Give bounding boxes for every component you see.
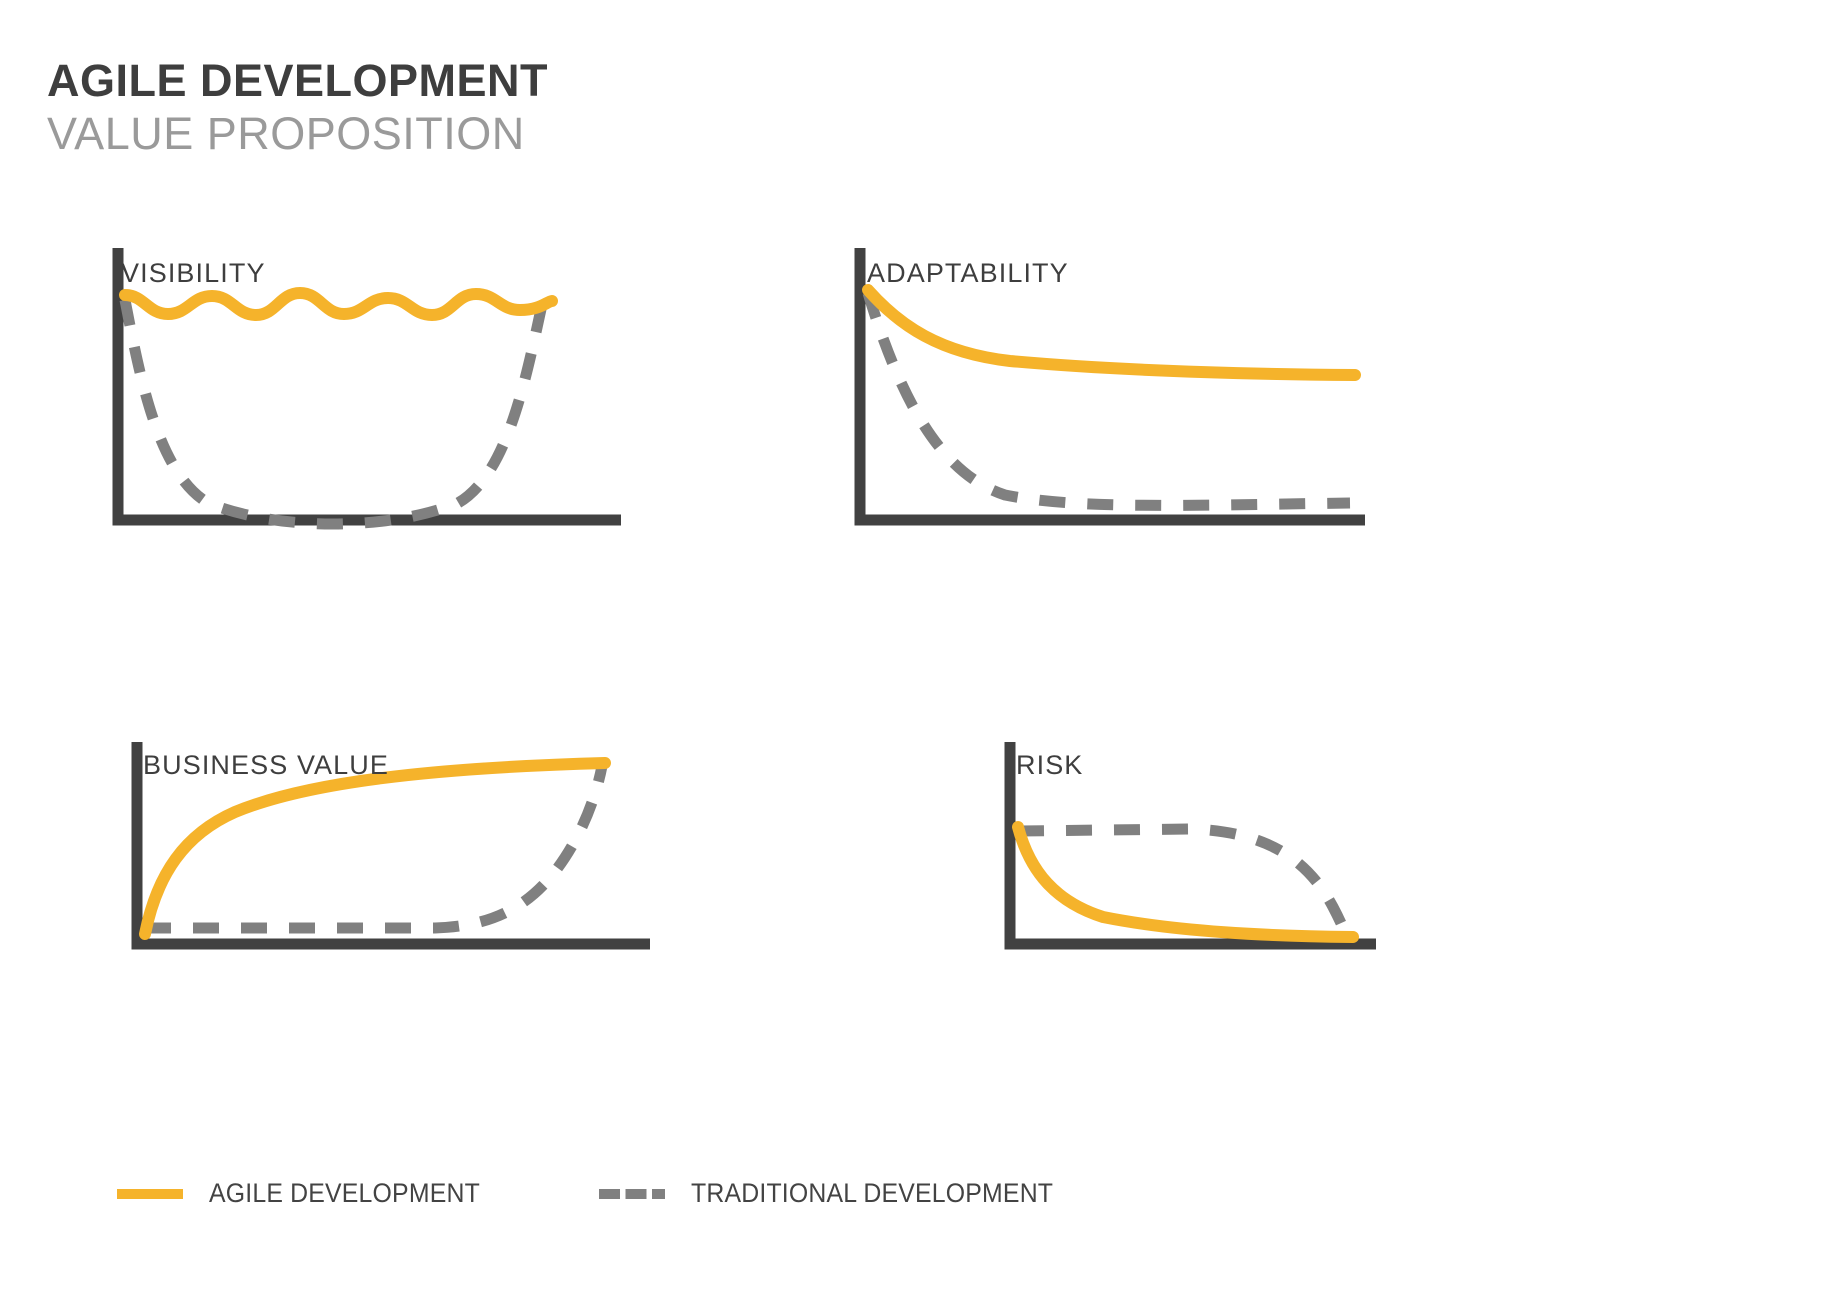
page-title: AGILE DEVELOPMENT VALUE PROPOSITION (47, 58, 548, 156)
series-agile-adaptability (868, 290, 1355, 375)
legend-label-traditional: TRADITIONAL DEVELOPMENT (691, 1178, 1053, 1209)
chart-title-visibility: VISIBILITY (121, 258, 266, 289)
title-subtitle: VALUE PROPOSITION (47, 111, 548, 156)
legend-item-agile: AGILE DEVELOPMENT (117, 1178, 503, 1209)
series-agile-business-value (145, 763, 605, 934)
solid-line-swatch-icon (117, 1189, 183, 1199)
chart-panel-visibility: VISIBILITY (88, 248, 633, 533)
chart-svg-visibility (88, 248, 633, 533)
series-agile-risk (1018, 827, 1353, 937)
dashed-line-swatch-icon (599, 1189, 665, 1199)
chart-panel-risk: RISK (978, 742, 1398, 957)
chart-svg-adaptability (830, 248, 1380, 533)
series-traditional-visibility (125, 300, 543, 524)
series-traditional-business-value (145, 766, 602, 928)
title-main: AGILE DEVELOPMENT (47, 58, 548, 103)
chart-title-risk: RISK (1016, 750, 1083, 781)
chart-title-adaptability: ADAPTABILITY (867, 258, 1069, 289)
chart-panel-adaptability: ADAPTABILITY (830, 248, 1380, 533)
series-agile-visibility (125, 293, 552, 315)
chart-title-business-value: BUSINESS VALUE (143, 750, 389, 781)
chart-legend: AGILE DEVELOPMENT TRADITIONAL DEVELOPMEN… (117, 1178, 1085, 1209)
legend-label-agile: AGILE DEVELOPMENT (209, 1178, 480, 1209)
series-traditional-adaptability (868, 293, 1350, 505)
legend-item-traditional: TRADITIONAL DEVELOPMENT (599, 1178, 1085, 1209)
chart-panel-business-value: BUSINESS VALUE (105, 742, 665, 957)
